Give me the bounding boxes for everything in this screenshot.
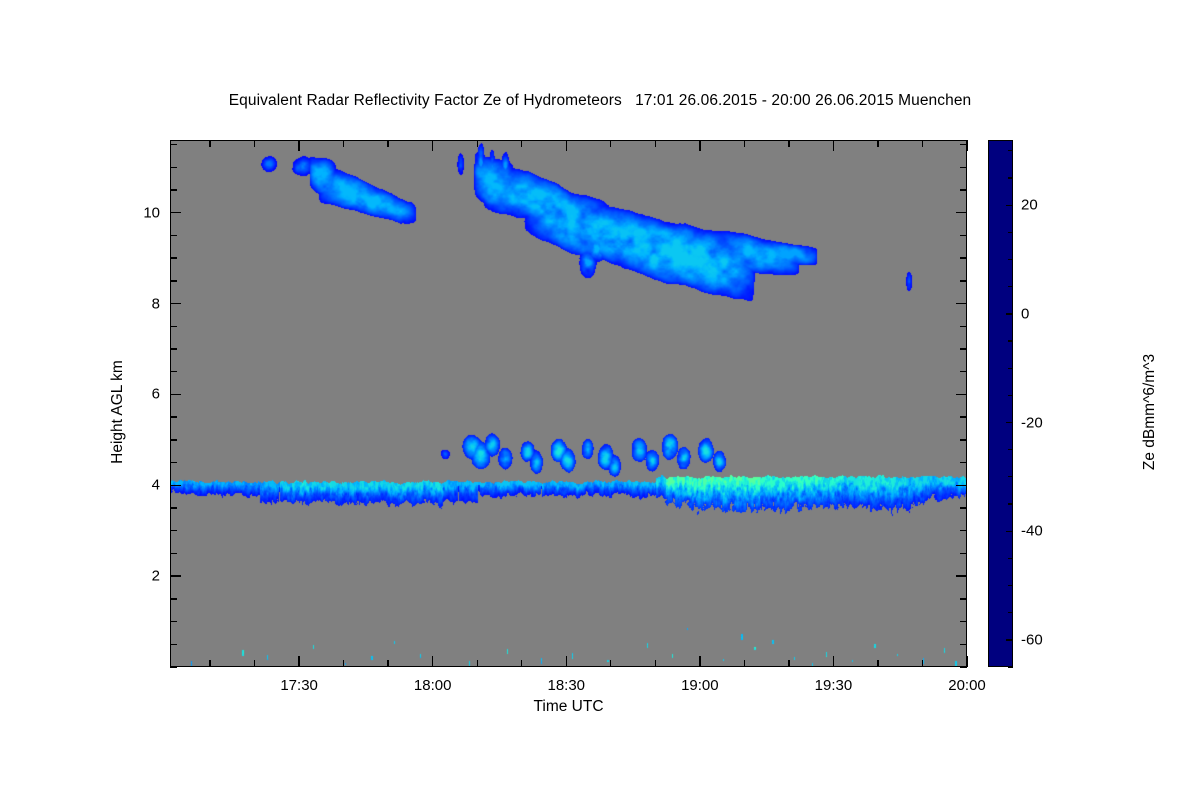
radar-plot-area[interactable] <box>170 140 967 667</box>
y-tick-right <box>956 303 967 304</box>
x-tick-bottom <box>788 660 789 667</box>
colorbar-minor-tick <box>1008 476 1013 477</box>
y-tick-left <box>170 530 177 531</box>
x-tick-top <box>254 140 255 147</box>
x-tick-bottom <box>699 656 700 667</box>
y-tick-left <box>170 644 177 645</box>
colorbar-major-tick <box>1006 639 1013 640</box>
y-tick-left <box>170 416 177 417</box>
colorbar-minor-tick <box>1008 612 1013 613</box>
x-tick-bottom <box>655 660 656 667</box>
x-tick-top <box>699 140 700 151</box>
y-tick-right <box>956 485 967 486</box>
colorbar-tick-label: -40 <box>1021 523 1043 540</box>
x-tick-top <box>833 140 834 151</box>
x-tick-bottom <box>343 660 344 667</box>
colorbar-minor-tick <box>1008 150 1013 151</box>
y-tick-label: 10 <box>112 204 160 221</box>
x-tick-top <box>744 140 745 147</box>
colorbar-minor-tick <box>1008 368 1013 369</box>
x-tick-bottom <box>566 656 567 667</box>
y-tick-right <box>960 280 967 281</box>
x-tick-label: 17:30 <box>280 677 318 694</box>
y-tick-left <box>170 257 177 258</box>
y-tick-right <box>960 189 967 190</box>
y-tick-left <box>170 553 177 554</box>
colorbar-minor-tick <box>1008 503 1013 504</box>
colorbar-minor-tick <box>1008 259 1013 260</box>
y-tick-right <box>960 235 967 236</box>
y-tick-left <box>170 621 177 622</box>
y-tick-left <box>170 507 177 508</box>
x-tick-label: 18:30 <box>547 677 585 694</box>
y-tick-right <box>960 507 967 508</box>
y-tick-right <box>960 598 967 599</box>
x-tick-top <box>566 140 567 151</box>
y-tick-left <box>170 189 177 190</box>
y-tick-right <box>960 462 967 463</box>
x-tick-top <box>877 140 878 147</box>
y-tick-right <box>960 348 967 349</box>
x-tick-label: 20:00 <box>948 677 986 694</box>
colorbar-minor-tick <box>1008 449 1013 450</box>
x-tick-top <box>521 140 522 147</box>
colorbar-minor-tick <box>1008 286 1013 287</box>
x-tick-bottom <box>610 660 611 667</box>
colorbar-major-tick <box>1006 531 1013 532</box>
colorbar-major-tick <box>1006 422 1013 423</box>
x-tick-bottom <box>254 660 255 667</box>
colorbar-tick-label: -60 <box>1021 631 1043 648</box>
y-tick-left <box>170 167 177 168</box>
colorbar-minor-tick <box>1008 395 1013 396</box>
x-tick-bottom <box>744 660 745 667</box>
x-tick-bottom <box>833 656 834 667</box>
x-tick-bottom <box>922 660 923 667</box>
x-tick-top <box>432 140 433 151</box>
y-tick-left <box>170 144 177 145</box>
y-tick-left <box>170 348 177 349</box>
x-tick-bottom <box>298 656 299 667</box>
y-tick-left <box>170 371 177 372</box>
y-tick-left <box>170 485 181 486</box>
page-title: Equivalent Radar Reflectivity Factor Ze … <box>0 92 1200 110</box>
y-tick-right <box>960 530 967 531</box>
y-tick-left <box>170 666 177 667</box>
colorbar-tick-label: 20 <box>1021 197 1038 214</box>
x-tick-top <box>655 140 656 147</box>
x-tick-top <box>966 140 967 151</box>
x-tick-bottom <box>209 660 210 667</box>
y-tick-right <box>960 326 967 327</box>
x-tick-bottom <box>432 656 433 667</box>
colorbar-minor-tick <box>1008 340 1013 341</box>
x-tick-bottom <box>877 660 878 667</box>
y-tick-right <box>960 257 967 258</box>
y-tick-right <box>960 144 967 145</box>
y-tick-right <box>960 167 967 168</box>
reflectivity-heatmap-canvas <box>171 141 967 667</box>
colorbar-major-tick <box>1006 313 1013 314</box>
x-tick-label: 19:30 <box>815 677 853 694</box>
y-tick-right <box>956 575 967 576</box>
x-tick-top <box>209 140 210 147</box>
colorbar-minor-tick <box>1008 666 1013 667</box>
y-tick-right <box>960 644 967 645</box>
colorbar-major-tick <box>1006 205 1013 206</box>
colorbar-minor-tick <box>1008 232 1013 233</box>
y-tick-right <box>956 212 967 213</box>
colorbar-label: Ze dBmm^6/m^3 <box>1141 262 1159 562</box>
x-tick-top <box>387 140 388 147</box>
y-tick-left <box>170 598 177 599</box>
colorbar-minor-tick <box>1008 585 1013 586</box>
y-tick-right <box>960 621 967 622</box>
y-axis-label: Height AGL km <box>109 292 127 532</box>
x-tick-top <box>922 140 923 147</box>
x-tick-label: 19:00 <box>681 677 719 694</box>
x-tick-label: 18:00 <box>414 677 452 694</box>
x-tick-top <box>610 140 611 147</box>
x-tick-bottom <box>387 660 388 667</box>
colorbar-gradient <box>989 141 1012 666</box>
x-axis-label: Time UTC <box>170 698 967 716</box>
y-tick-left <box>170 235 177 236</box>
y-tick-right <box>960 666 967 667</box>
x-tick-top <box>477 140 478 147</box>
colorbar-minor-tick <box>1008 177 1013 178</box>
colorbar[interactable] <box>988 140 1013 667</box>
y-tick-left <box>170 462 177 463</box>
y-tick-left <box>170 212 181 213</box>
colorbar-tick-label: -20 <box>1021 414 1043 431</box>
y-tick-right <box>960 371 967 372</box>
y-tick-left <box>170 575 181 576</box>
y-tick-right <box>960 553 967 554</box>
colorbar-tick-label: 0 <box>1021 305 1029 322</box>
x-tick-top <box>298 140 299 151</box>
y-tick-left <box>170 326 177 327</box>
y-tick-left <box>170 303 181 304</box>
y-tick-left <box>170 439 177 440</box>
y-tick-left <box>170 394 181 395</box>
y-tick-label: 2 <box>112 568 160 585</box>
x-tick-top <box>343 140 344 147</box>
x-tick-bottom <box>521 660 522 667</box>
y-tick-left <box>170 280 177 281</box>
x-tick-bottom <box>477 660 478 667</box>
y-tick-right <box>960 416 967 417</box>
radar-figure: Equivalent Radar Reflectivity Factor Ze … <box>0 0 1200 800</box>
y-tick-right <box>960 439 967 440</box>
y-tick-right <box>956 394 967 395</box>
colorbar-minor-tick <box>1008 558 1013 559</box>
x-tick-top <box>788 140 789 147</box>
